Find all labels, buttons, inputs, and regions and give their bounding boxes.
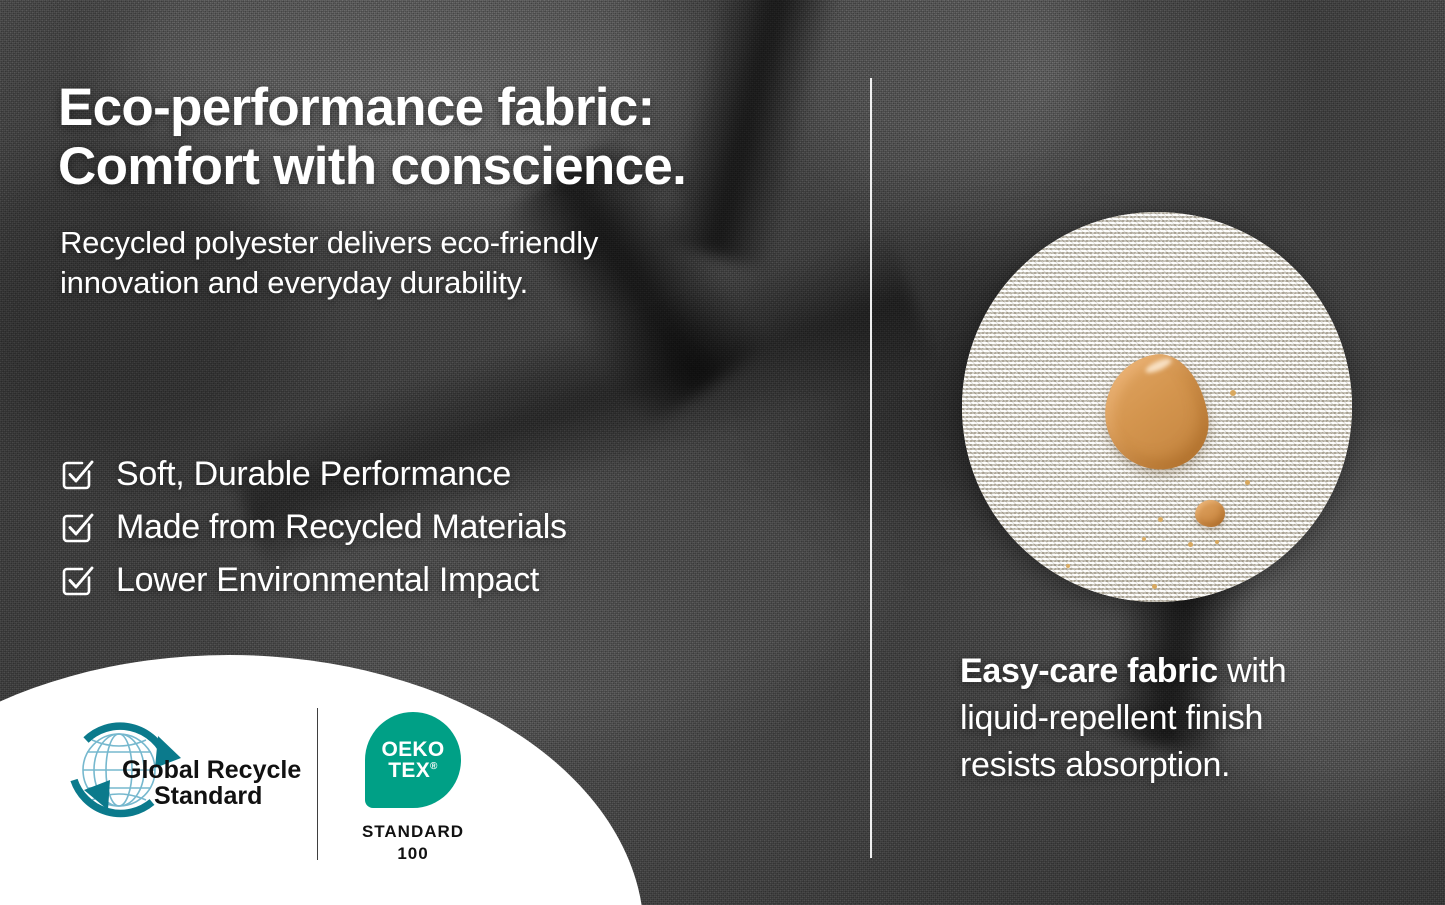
oeko-tex-certification: OEKO TEX® STANDARD 100 [339, 712, 487, 866]
photo-caption: Easy-care fabric with liquid-repellent f… [960, 648, 1410, 789]
oeko-mark-line-1: OEKO [381, 739, 444, 760]
droplet-speck [1230, 390, 1236, 396]
droplet-speck [1188, 542, 1193, 547]
list-item-label: Made from Recycled Materials [116, 508, 567, 547]
droplet-speck [1215, 540, 1219, 544]
caption-line-2: liquid-repellent finish [960, 695, 1410, 742]
droplet-speck [1245, 480, 1250, 485]
caption-bold-lead: Easy-care fabric [960, 652, 1218, 690]
droplet-speck [1158, 517, 1163, 522]
global-recycled-standard-logo: Global Recycled Standard [62, 718, 302, 828]
droplet-speck [1262, 580, 1266, 584]
oeko-tex-droplet-icon: OEKO TEX® [365, 712, 461, 808]
checkbox-checked-icon [60, 511, 94, 545]
caption-line-3: resists absorption. [960, 742, 1410, 789]
list-item: Made from Recycled Materials [60, 508, 780, 547]
fabric-liquid-repellency-photo [962, 212, 1352, 602]
product-feature-banner: Eco-performance fabric: Comfort with con… [0, 0, 1445, 905]
list-item-label: Soft, Durable Performance [116, 455, 511, 494]
subheading: Recycled polyester delivers eco-friendly… [60, 223, 720, 302]
droplet-speck [1152, 584, 1157, 589]
page-title: Eco-performance fabric: Comfort with con… [58, 78, 848, 196]
droplet-speck [1066, 564, 1070, 568]
headline-line-1: Eco-performance fabric: [58, 78, 848, 137]
checkbox-checked-icon [60, 564, 94, 598]
oeko-standard-label: STANDARD [339, 821, 487, 843]
headline-line-2: Comfort with conscience. [58, 137, 848, 196]
list-item-label: Lower Environmental Impact [116, 561, 539, 600]
logo-separator [317, 708, 318, 860]
subhead-line-1: Recycled polyester delivers eco-friendly [60, 223, 720, 263]
list-item: Soft, Durable Performance [60, 455, 780, 494]
grs-label-line-2: Standard [154, 782, 262, 810]
grs-label-line-1: Global Recycled [122, 756, 302, 784]
vertical-divider [870, 78, 872, 858]
caption-line-1: Easy-care fabric with [960, 648, 1410, 695]
liquid-droplet-small [1195, 500, 1225, 527]
feature-list: Soft, Durable Performance Made from Recy… [60, 455, 780, 614]
oeko-mark-line-2: TEX® [388, 760, 437, 781]
checkbox-checked-icon [60, 458, 94, 492]
droplet-speck [1142, 537, 1146, 541]
list-item: Lower Environmental Impact [60, 561, 780, 600]
oeko-standard-number: 100 [339, 843, 487, 865]
subhead-line-2: innovation and everyday durability. [60, 263, 720, 303]
